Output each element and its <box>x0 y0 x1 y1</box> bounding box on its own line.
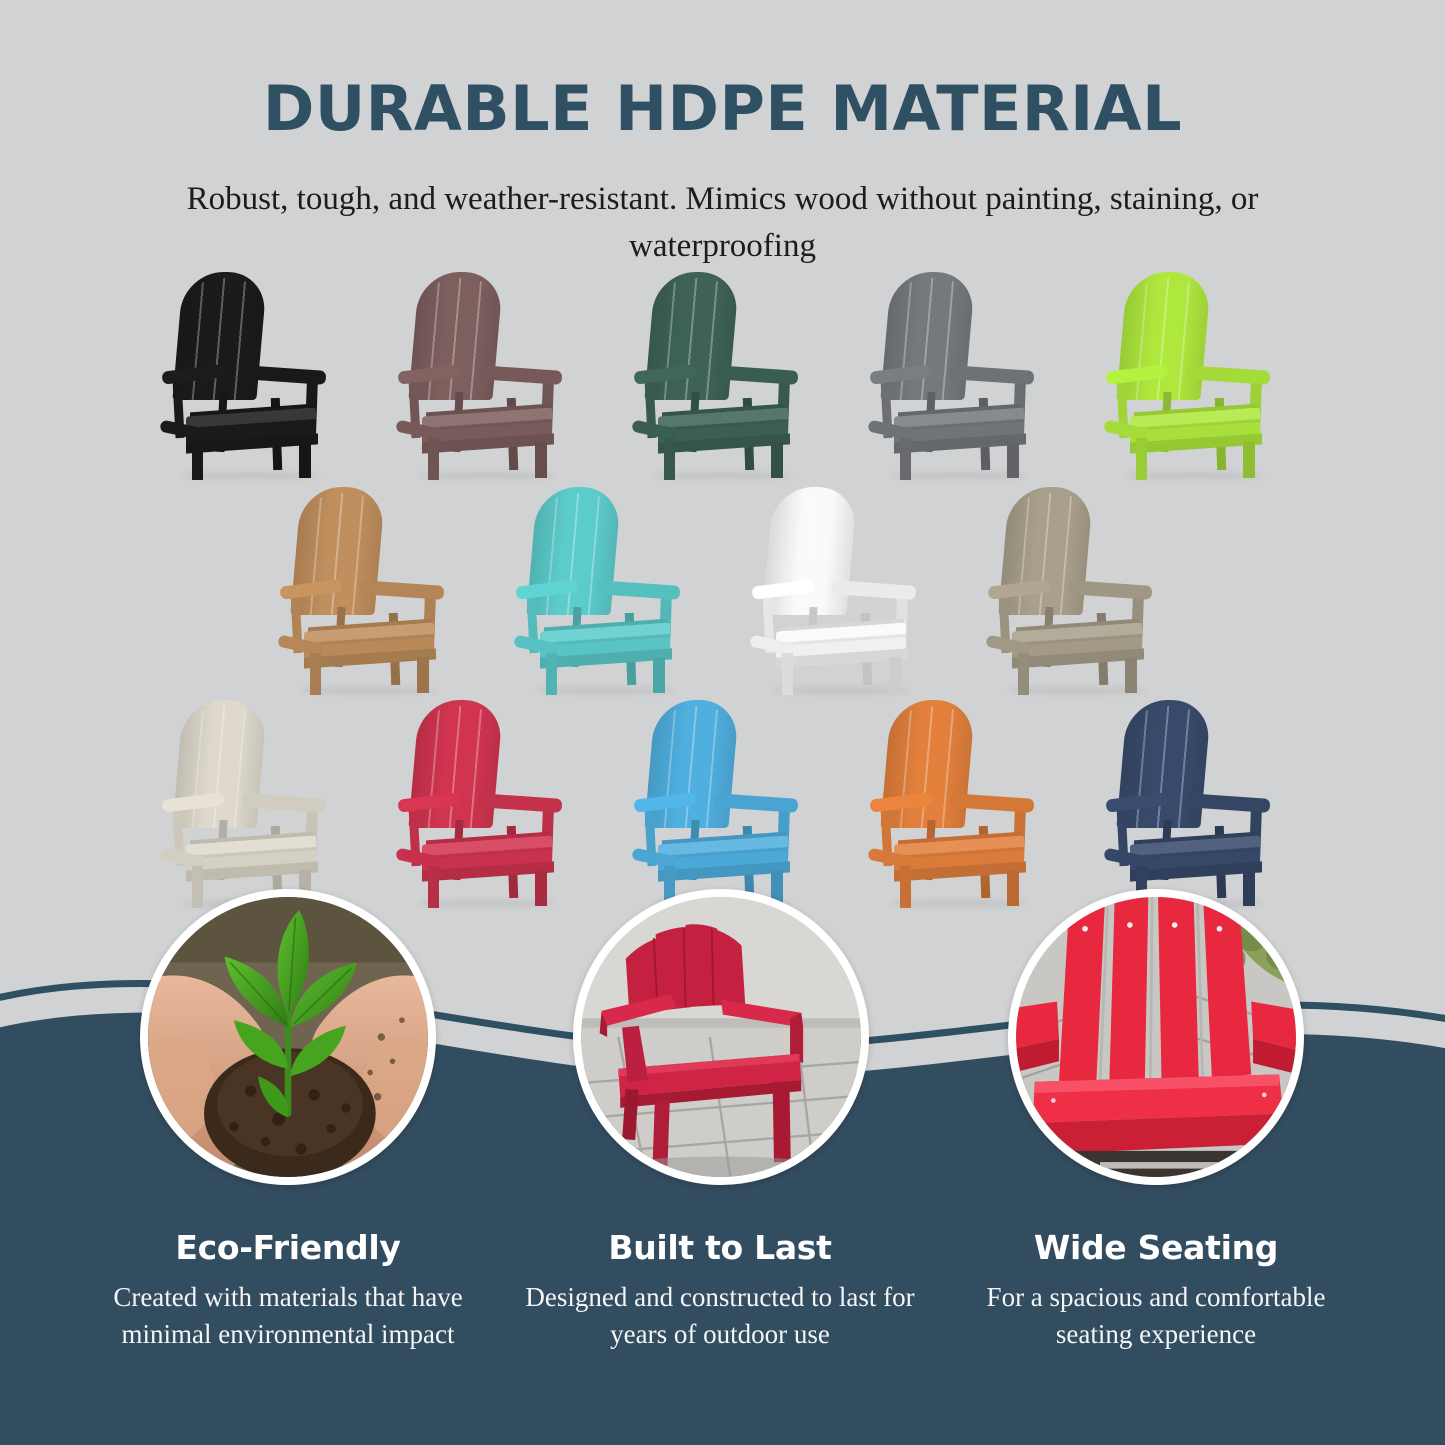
feature-description-built-to-last: Designed and constructed to last for yea… <box>500 1279 940 1352</box>
page-title: DURABLE HDPE MATERIAL <box>0 78 1445 140</box>
chair-part-leg-front-r <box>535 442 547 478</box>
chair-part-leg-front-r <box>889 657 901 693</box>
chair-part-leg-front-l <box>428 438 439 480</box>
chair-swatch-white[interactable] <box>746 487 936 692</box>
chair-part-leg-front-l <box>782 653 793 695</box>
feature-title-eco-friendly: Eco-Friendly <box>68 1228 508 1267</box>
chair-swatch-teak[interactable] <box>274 487 464 692</box>
chair-part-leg-front-l <box>900 438 911 480</box>
chair-part-leg-front-l <box>1136 438 1147 480</box>
chair-part-leg-front-l <box>192 866 203 908</box>
chair-part-leg-front-r <box>417 657 429 693</box>
chair-swatch-black[interactable] <box>156 272 346 477</box>
chair-swatch-lime-green[interactable] <box>1100 272 1290 477</box>
feature-description-eco-friendly: Created with materials that have minimal… <box>68 1279 508 1352</box>
feature-photo-wide-seating <box>1008 889 1304 1185</box>
chair-part-leg-front-l <box>428 866 439 908</box>
chair-swatch-orange[interactable] <box>864 700 1054 905</box>
red-chair-patio-icon <box>581 897 861 1177</box>
chair-part-leg-front-l <box>192 438 203 480</box>
feature-title-built-to-last: Built to Last <box>500 1228 940 1267</box>
chair-part-leg-front-r <box>771 442 783 478</box>
page-subtitle: Robust, tough, and weather-resistant. Mi… <box>160 176 1285 270</box>
hands-holding-seedling-icon <box>148 897 428 1177</box>
chair-part-leg-front-r <box>1243 442 1255 478</box>
chair-swatch-turquoise[interactable] <box>510 487 700 692</box>
chair-swatch-gray[interactable] <box>864 272 1054 477</box>
chair-part-leg-front-r <box>653 657 665 693</box>
feature-photo-eco-friendly <box>140 889 436 1185</box>
feature-column-built-to-last: Built to Last Designed and constructed t… <box>500 1228 940 1352</box>
chair-part-leg-front-r <box>1007 442 1019 478</box>
chair-swatch-brown[interactable] <box>392 272 582 477</box>
chair-color-row-2 <box>0 487 1445 692</box>
feature-column-wide-seating: Wide Seating For a spacious and comforta… <box>936 1228 1376 1352</box>
chair-color-row-1 <box>0 272 1445 477</box>
chair-swatch-dark-green[interactable] <box>628 272 818 477</box>
chair-part-leg-front-r <box>1125 657 1137 693</box>
chair-color-row-3 <box>0 700 1445 905</box>
chair-part-leg-front-r <box>1243 870 1255 906</box>
chair-part-leg-front-r <box>1007 870 1019 906</box>
chair-part-leg-front-l <box>1018 653 1029 695</box>
chair-swatch-light-blue[interactable] <box>628 700 818 905</box>
chair-part-leg-front-r <box>299 442 311 478</box>
chair-part-leg-front-r <box>535 870 547 906</box>
feature-column-eco-friendly: Eco-Friendly Created with materials that… <box>68 1228 508 1352</box>
feature-description-wide-seating: For a spacious and comfortable seating e… <box>936 1279 1376 1352</box>
chair-swatch-driftwood[interactable] <box>982 487 1172 692</box>
chair-part-leg-front-l <box>310 653 321 695</box>
chair-part-leg-front-l <box>900 866 911 908</box>
chair-swatch-navy-blue[interactable] <box>1100 700 1290 905</box>
chair-part-leg-front-l <box>664 438 675 480</box>
chair-part-leg-front-l <box>546 653 557 695</box>
infographic-canvas: DURABLE HDPE MATERIAL Robust, tough, and… <box>0 0 1445 1445</box>
chair-swatch-red[interactable] <box>392 700 582 905</box>
feature-title-wide-seating: Wide Seating <box>936 1228 1376 1267</box>
chair-swatch-ivory[interactable] <box>156 700 346 905</box>
red-chair-wide-seat-icon <box>1016 897 1296 1177</box>
feature-photo-built-to-last <box>573 889 869 1185</box>
